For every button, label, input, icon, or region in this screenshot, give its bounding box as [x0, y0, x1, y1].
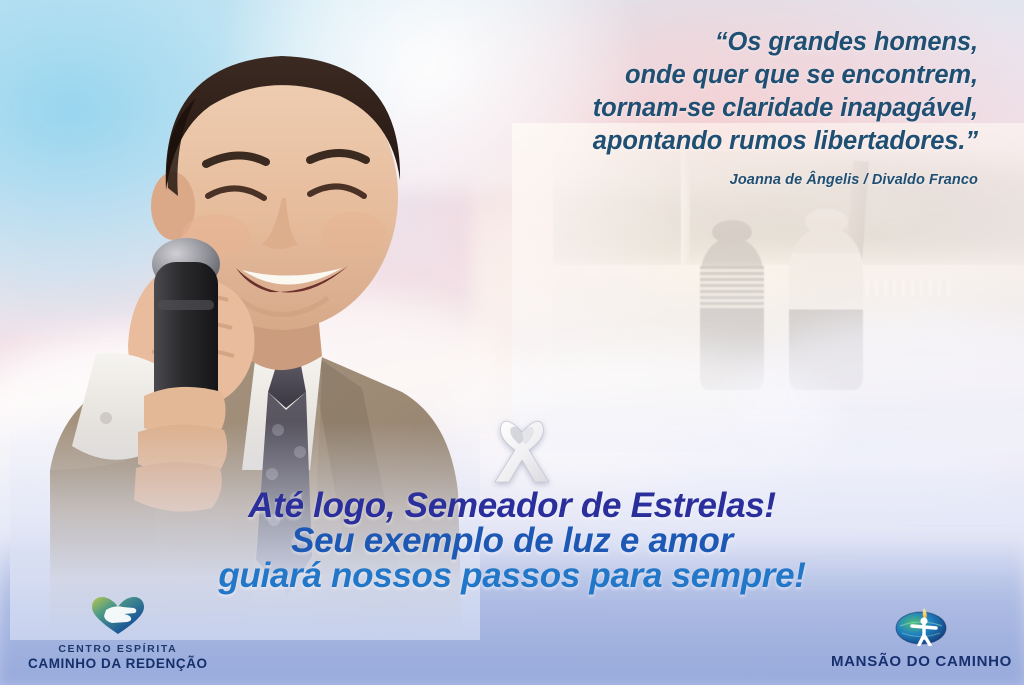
headline-line-1: Até logo, Semeador de Estrelas!	[0, 488, 1024, 523]
headline-line-2: Seu exemplo de luz e amor	[0, 523, 1024, 558]
quote-line-3: tornam-se claridade inapagável,	[418, 92, 978, 125]
memorial-banner: “Os grandes homens, onde quer que se enc…	[0, 0, 1024, 685]
quote-block: “Os grandes homens, onde quer que se enc…	[418, 26, 978, 188]
logo-mansao-do-caminho: MANSÃO DO CAMINHO	[831, 602, 1012, 671]
quote-line-2: onde quer que se encontrem,	[418, 59, 978, 92]
quote-attribution: Joanna de Ângelis / Divaldo Franco	[418, 172, 978, 188]
headline-block: Até logo, Semeador de Estrelas! Seu exem…	[0, 488, 1024, 593]
globe-with-figure-icon	[894, 602, 948, 651]
logo-left-line-2: CAMINHO DA REDENÇÃO	[28, 656, 208, 671]
quote-line-1: “Os grandes homens,	[418, 26, 978, 59]
logo-left-line-1: CENTRO ESPÍRITA	[28, 644, 208, 656]
headline-line-3: guiará nossos passos para sempre!	[0, 558, 1024, 593]
logo-centro-espirita: CENTRO ESPÍRITA CAMINHO DA REDENÇÃO	[28, 596, 208, 671]
white-ribbon-icon	[485, 408, 559, 488]
logo-right-line-1: MANSÃO DO CAMINHO	[831, 654, 1012, 671]
quote-line-4: apontando rumos libertadores.”	[418, 125, 978, 158]
heart-with-hand-icon	[90, 596, 146, 641]
